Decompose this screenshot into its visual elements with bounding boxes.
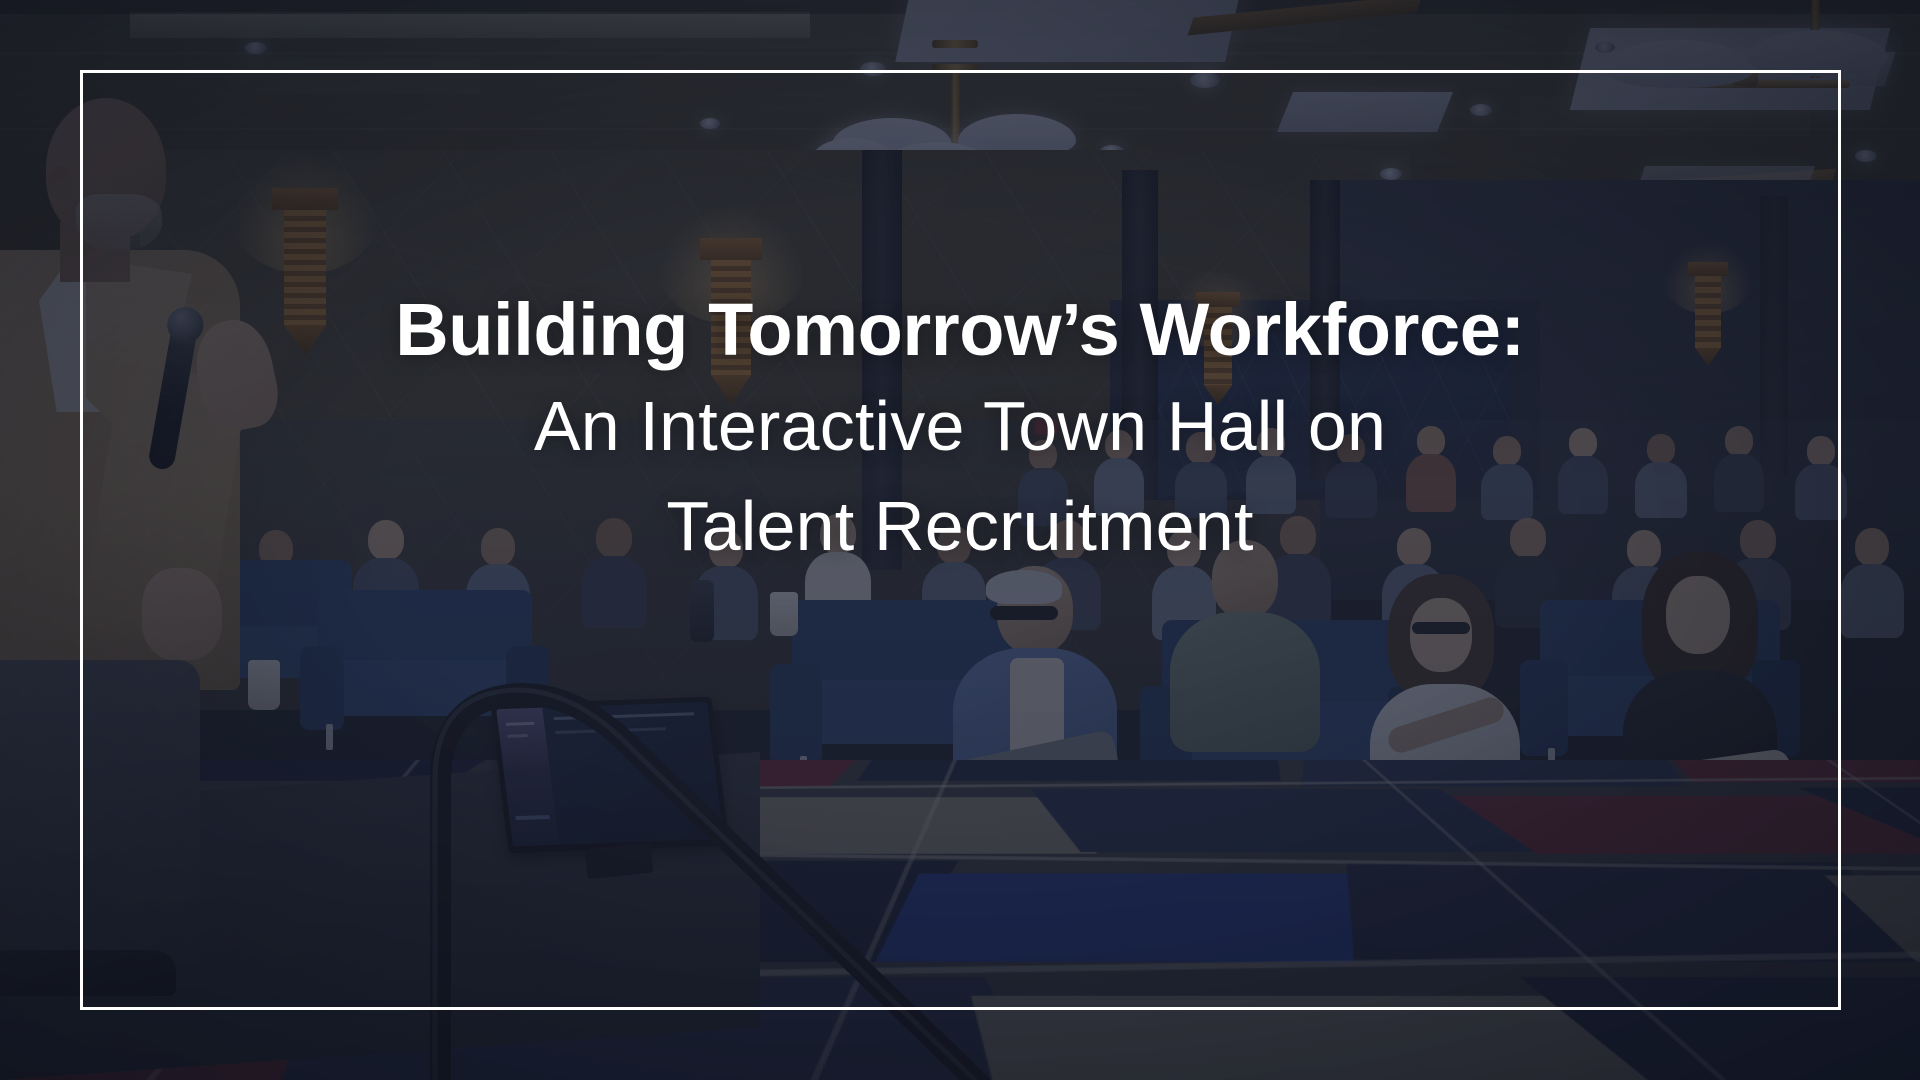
title-line-2: An Interactive Town Hall on bbox=[0, 389, 1920, 465]
title-line-1: Building Tomorrow’s Workforce: bbox=[0, 292, 1920, 367]
title-block: Building Tomorrow’s Workforce: An Intera… bbox=[0, 292, 1920, 565]
title-slide: Building Tomorrow’s Workforce: An Intera… bbox=[0, 0, 1920, 1080]
title-line-3: Talent Recruitment bbox=[0, 489, 1920, 565]
